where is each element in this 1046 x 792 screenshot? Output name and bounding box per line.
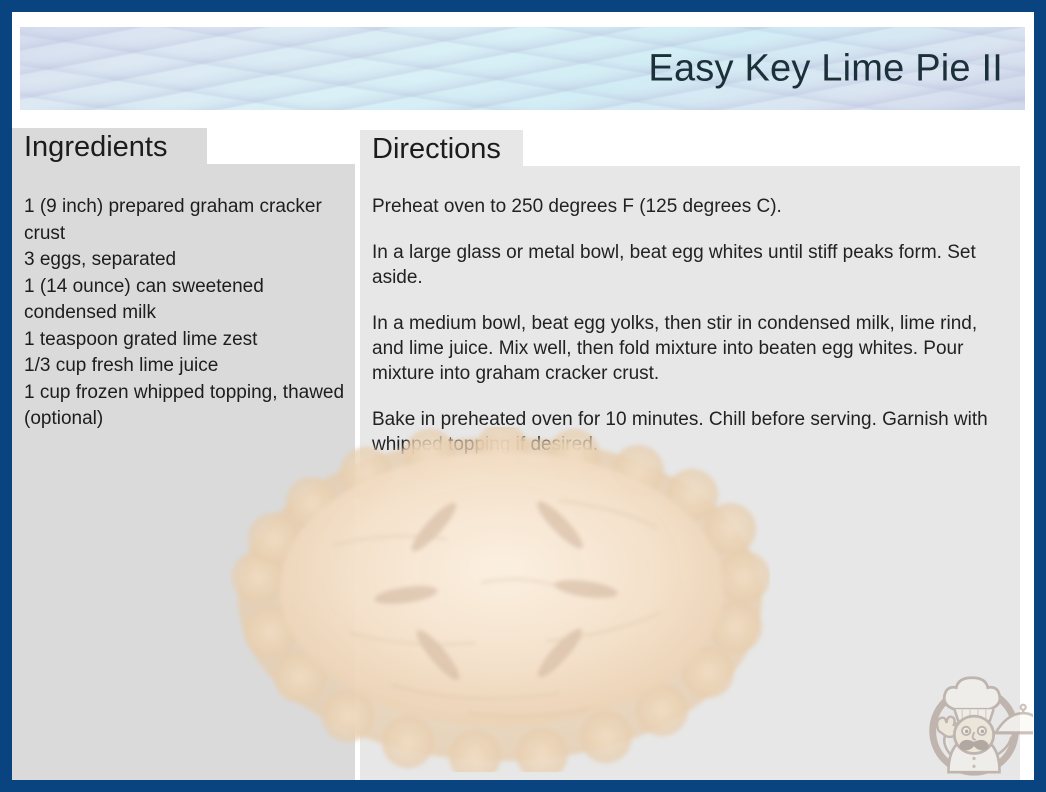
ingredients-heading: Ingredients — [24, 131, 168, 164]
direction-step: In a large glass or metal bowl, beat egg… — [372, 240, 1012, 290]
recipe-page: Easy Key Lime Pie II Ingredients 1 (9 in… — [12, 12, 1034, 780]
direction-step: In a medium bowl, beat egg yolks, then s… — [372, 311, 1012, 386]
list-item: 1 (9 inch) prepared graham cracker crust — [24, 194, 345, 247]
list-item: 1 teaspoon grated lime zest — [24, 327, 345, 354]
page-title: Easy Key Lime Pie II — [648, 47, 1003, 90]
ingredients-list: 1 (9 inch) prepared graham cracker crust… — [24, 194, 345, 433]
list-item: 1 cup frozen whipped topping, thawed (op… — [24, 380, 345, 433]
direction-step: Preheat oven to 250 degrees F (125 degre… — [372, 194, 1012, 219]
directions-list: Preheat oven to 250 degrees F (125 degre… — [372, 194, 1012, 457]
direction-step: Bake in preheated oven for 10 minutes. C… — [372, 407, 1012, 457]
ingredients-panel: 1 (9 inch) prepared graham cracker crust… — [12, 164, 355, 780]
recipe-card: Easy Key Lime Pie II Ingredients 1 (9 in… — [0, 0, 1046, 792]
directions-heading: Directions — [372, 133, 501, 166]
header-banner: Easy Key Lime Pie II — [20, 27, 1025, 110]
directions-panel: Preheat oven to 250 degrees F (125 degre… — [360, 166, 1020, 780]
list-item: 1 (14 ounce) can sweetened condensed mil… — [24, 274, 345, 327]
list-item: 1/3 cup fresh lime juice — [24, 353, 345, 380]
list-item: 3 eggs, separated — [24, 247, 345, 274]
